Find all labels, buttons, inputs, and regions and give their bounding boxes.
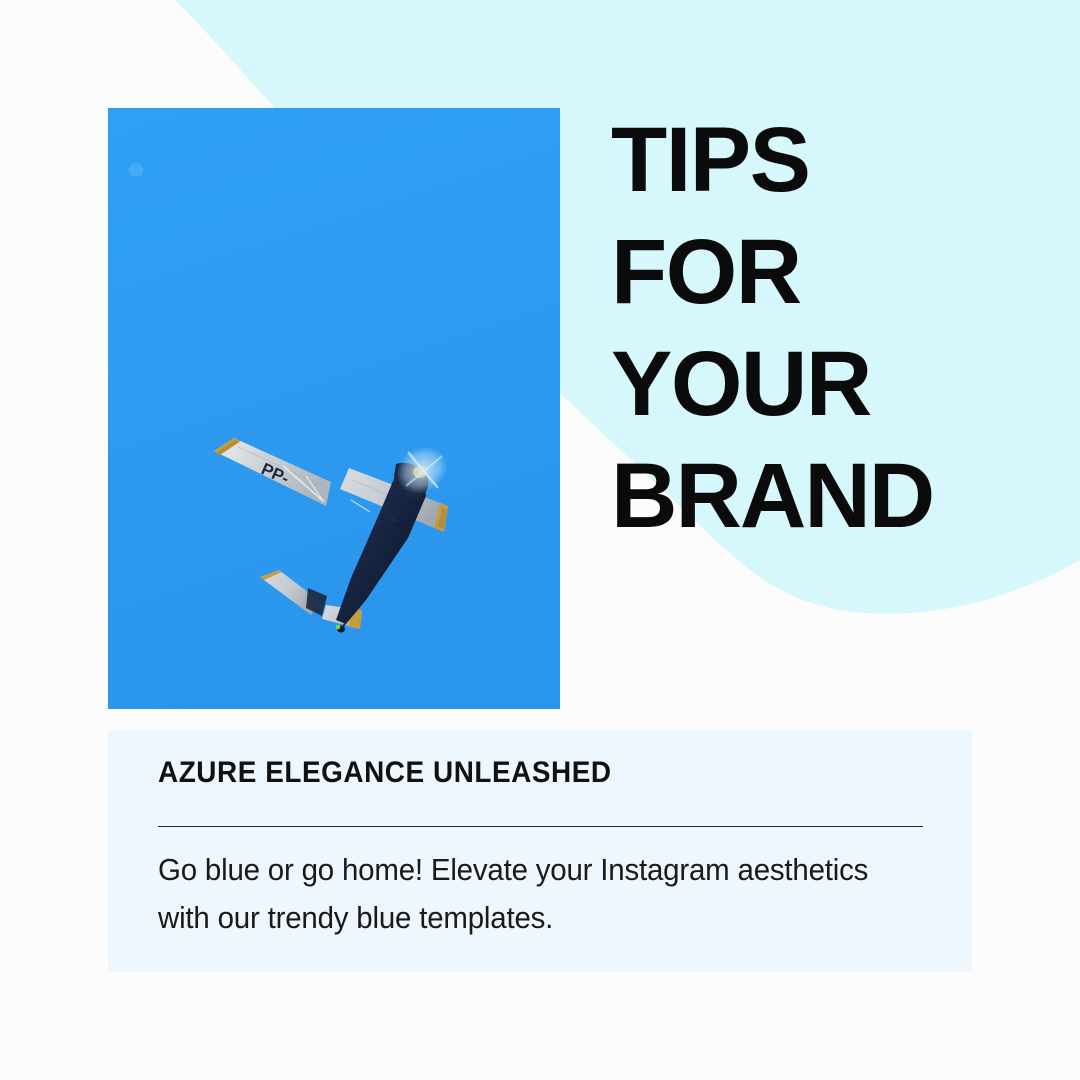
- caption-divider: [158, 826, 923, 827]
- headline-line-4: BRAND: [611, 440, 1031, 552]
- landing-gear-wheel: [393, 521, 405, 531]
- lens-flare-spot: [129, 163, 143, 177]
- airplane-photo-card: PP- FHN: [108, 108, 560, 709]
- airplane-photo-image: PP- FHN: [108, 108, 560, 709]
- caption-panel: AZURE ELEGANCE UNLEASHED Go blue or go h…: [108, 730, 972, 972]
- caption-body: Go blue or go home! Elevate your Instagr…: [158, 846, 890, 942]
- caption-title: AZURE ELEGANCE UNLEASHED: [158, 756, 612, 790]
- headline-line-1: TIPS: [611, 104, 1031, 216]
- social-post-canvas: PP- FHN: [0, 0, 1080, 1080]
- headline-line-2: FOR: [611, 216, 1031, 328]
- navigation-light: [336, 625, 341, 630]
- headline-line-3: YOUR: [611, 328, 1031, 440]
- headline-block: TIPS FOR YOUR BRAND: [611, 104, 1031, 552]
